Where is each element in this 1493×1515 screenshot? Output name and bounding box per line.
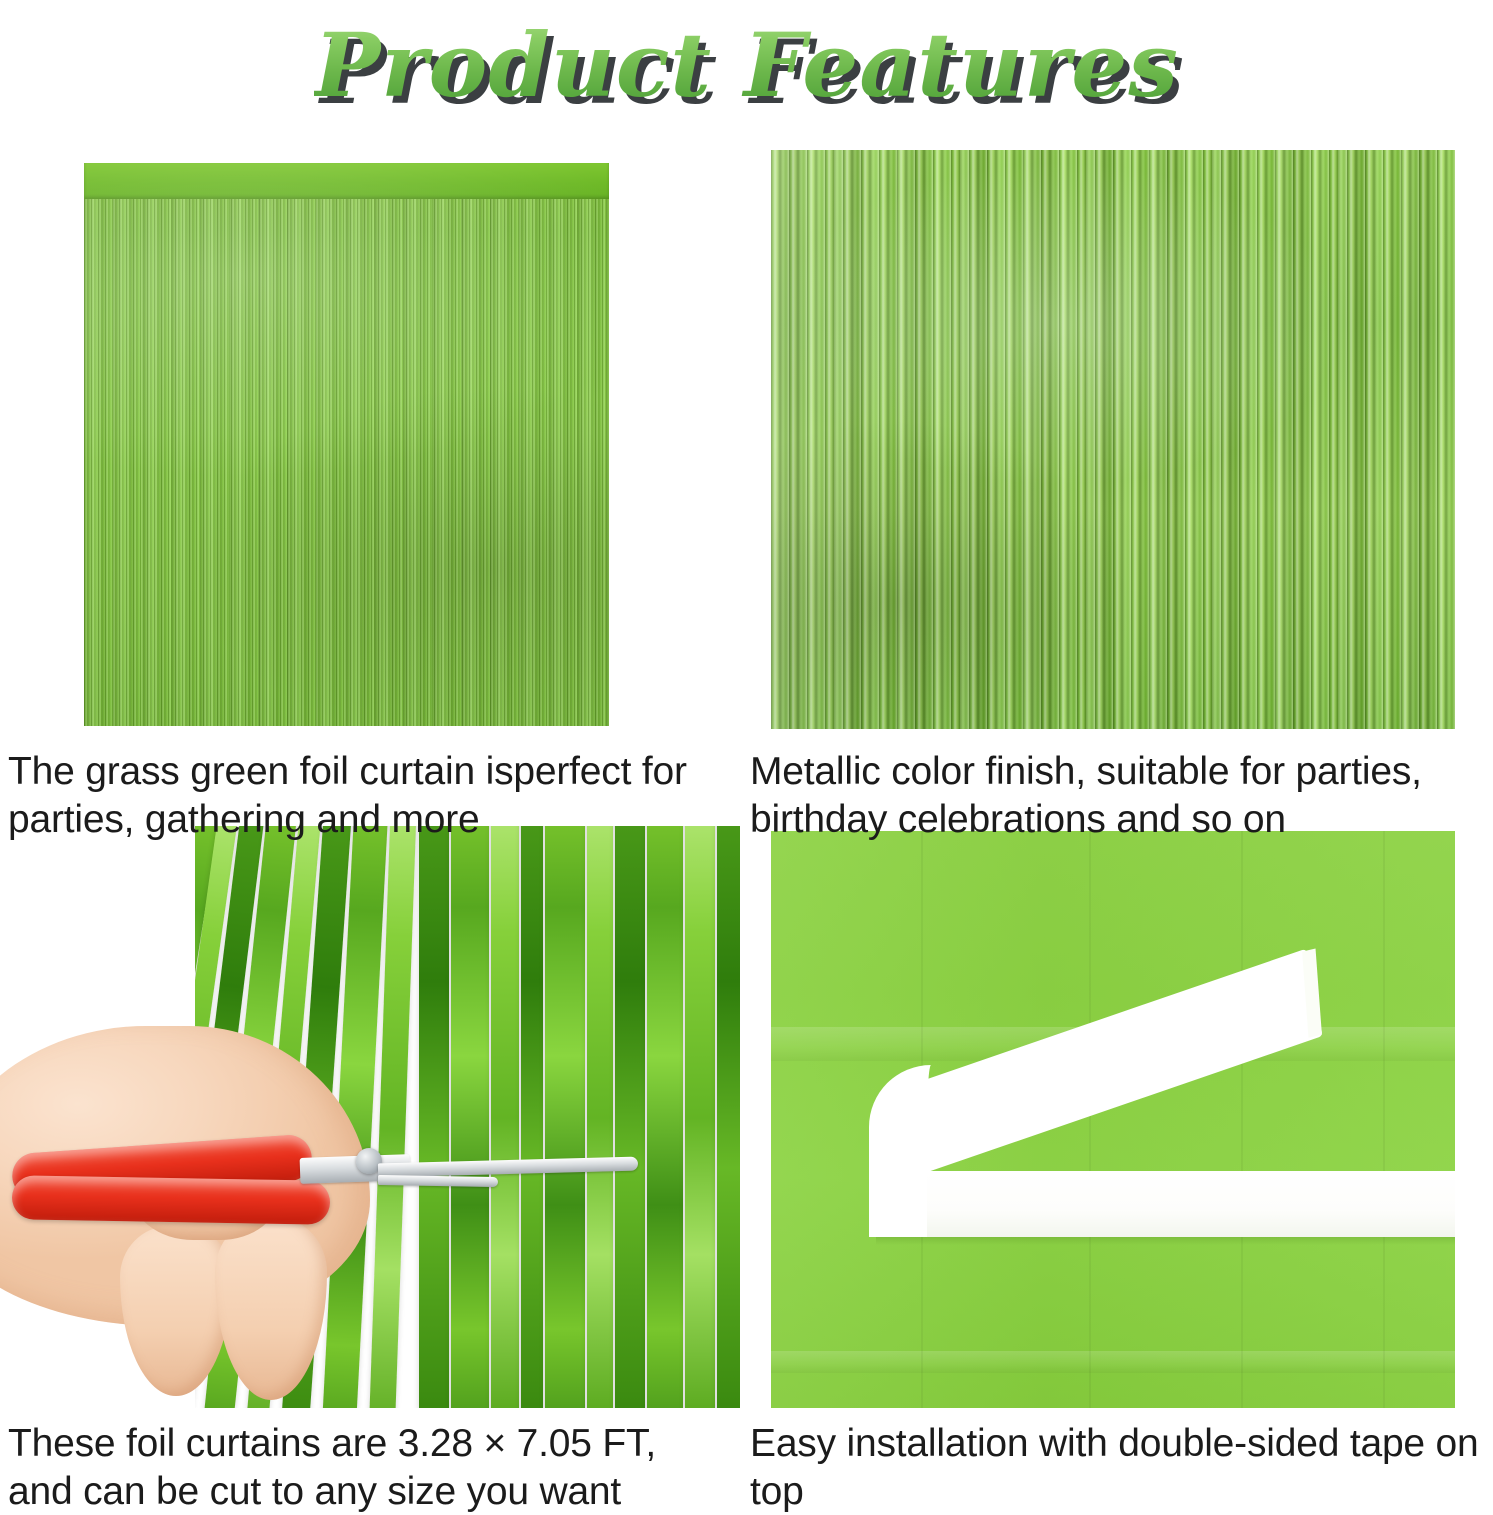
feature-image-foil-closeup: [771, 150, 1455, 729]
tape-strip-peeled: [901, 948, 1323, 1176]
feature-image-foil-curtain-full: [84, 163, 609, 726]
sheet-crease: [1089, 831, 1091, 1408]
feature-image-tape-demo: [771, 831, 1455, 1408]
sheet-crease: [1241, 831, 1243, 1408]
page-title-text: Product Features Product Features: [314, 21, 1179, 109]
page-title-face: Product Features: [314, 13, 1179, 117]
scissors-blade-lower: [378, 1175, 498, 1187]
sheet-crease: [1383, 831, 1385, 1408]
scissors-handle-lower: [12, 1175, 331, 1225]
sheet-seam-lower: [771, 1351, 1455, 1373]
feature-caption-tape-demo: Easy installation with double-sided tape…: [750, 1420, 1492, 1515]
feature-caption-foil-curtain-full: The grass green foil curtain isperfect f…: [8, 748, 708, 843]
feature-image-cut-demo: [0, 826, 740, 1408]
feature-caption-cut-demo: These foil curtains are 3.28 × 7.05 FT, …: [8, 1420, 723, 1515]
feature-caption-foil-closeup: Metallic color finish, suitable for part…: [750, 748, 1493, 843]
page-title: Product Features Product Features: [0, 0, 1493, 130]
